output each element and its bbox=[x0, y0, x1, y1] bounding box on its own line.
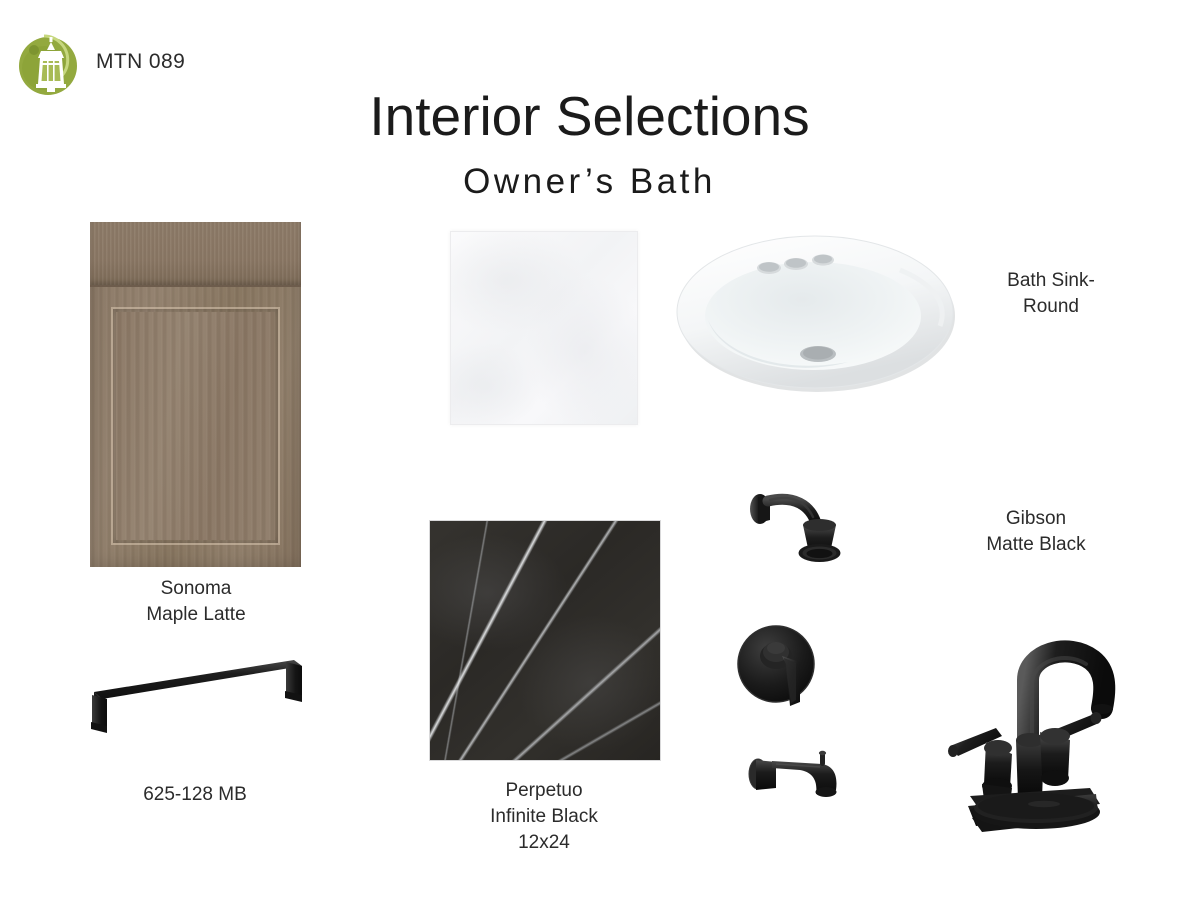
shower-head-icon bbox=[740, 483, 868, 583]
bath-sink-image bbox=[672, 228, 958, 396]
cabinet-center-panel bbox=[116, 312, 275, 540]
black-marble-tile-sample bbox=[429, 520, 661, 761]
tub-spout-icon bbox=[742, 750, 860, 816]
project-code-label: MTN 089 bbox=[96, 50, 185, 74]
interior-selections-board: MTN 089 Interior Selections Owner’s Bath… bbox=[0, 0, 1179, 912]
cabinet-pull-caption: 625-128 MB bbox=[95, 782, 295, 808]
cabinet-caption: Sonoma Maple Latte bbox=[94, 576, 298, 628]
white-tile-sample bbox=[450, 231, 638, 425]
cabinet-shaker-frame bbox=[111, 307, 280, 545]
black-tile-caption: Perpetuo Infinite Black 12x24 bbox=[434, 778, 654, 856]
page-subtitle: Owner’s Bath bbox=[0, 162, 1179, 202]
trim-finish-caption: Gibson Matte Black bbox=[925, 506, 1147, 558]
cabinet-drawer-front bbox=[90, 222, 301, 287]
shower-valve-trim-icon bbox=[730, 618, 840, 714]
cabinet-door-sample bbox=[90, 222, 301, 567]
cabinet-pull-sample bbox=[80, 652, 320, 762]
lavatory-faucet-image bbox=[940, 636, 1162, 854]
page-title: Interior Selections bbox=[0, 84, 1179, 148]
bath-sink-caption: Bath Sink- Round bbox=[962, 268, 1140, 320]
